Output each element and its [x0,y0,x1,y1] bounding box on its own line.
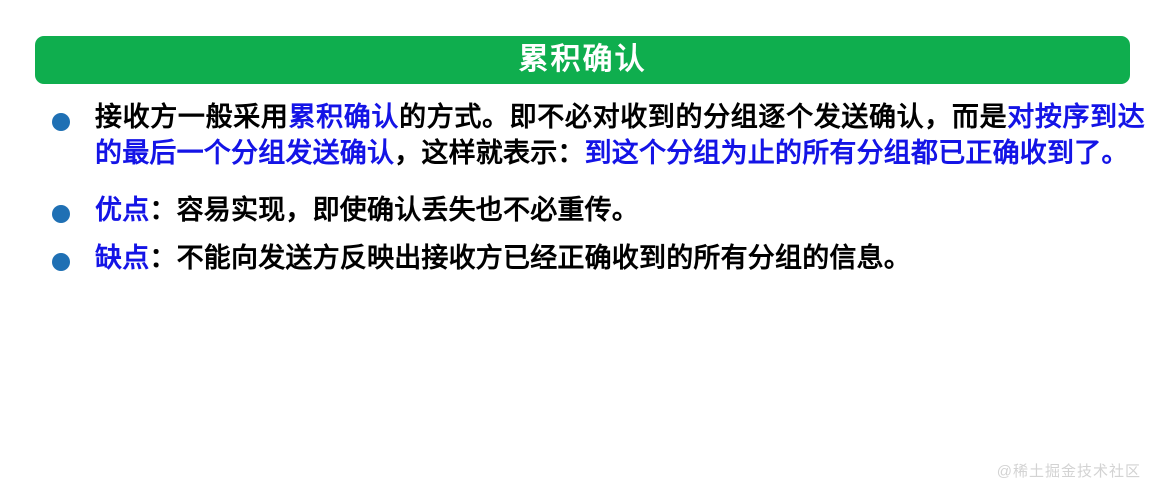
bullet-dot-icon [52,205,70,223]
highlight-segment: 累积确认 [289,102,400,132]
slide-title-bar: 累积确认 [35,36,1130,84]
list-item: 接收方一般采用累积确认的方式。即不必对收到的分组逐个发送确认，而是对按序到达的最… [0,100,1163,171]
bullet-text-accumulative-ack: 接收方一般采用累积确认的方式。即不必对收到的分组逐个发送确认，而是对按序到达的最… [95,100,1145,171]
bullet-text-disadvantage: 缺点：不能向发送方反映出接收方已经正确收到的所有分组的信息。 [95,241,1145,277]
bullet-dot-icon [52,253,70,271]
text-segment: 接收方一般采用 [95,102,289,132]
text-segment: ，这样就表示： [394,138,584,168]
highlight-segment: 缺点 [95,243,149,273]
slide-root: 累积确认 接收方一般采用累积确认的方式。即不必对收到的分组逐个发送确认，而是对按… [0,0,1163,495]
list-item: 优点：容易实现，即使确认丢失也不必重传。 [0,193,1163,229]
text-segment: ：不能向发送方反映出接收方已经正确收到的所有分组的信息。 [149,243,911,273]
text-segment: 的方式。即不必对收到的分组逐个发送确认，而是 [399,102,1007,132]
highlight-segment: 到这个分组为止的所有分组都已正确收到了。 [585,138,1129,168]
list-item: 缺点：不能向发送方反映出接收方已经正确收到的所有分组的信息。 [0,241,1163,277]
text-segment: ：容易实现，即使确认丢失也不必重传。 [149,195,639,225]
slide-body: 接收方一般采用累积确认的方式。即不必对收到的分组逐个发送确认，而是对按序到达的最… [0,100,1163,281]
highlight-segment: 优点 [95,195,149,225]
bullet-dot-icon [52,113,70,131]
watermark: @稀土掘金技术社区 [997,460,1141,481]
page-title: 累积确认 [519,45,647,75]
bullet-text-advantage: 优点：容易实现，即使确认丢失也不必重传。 [95,193,1145,229]
